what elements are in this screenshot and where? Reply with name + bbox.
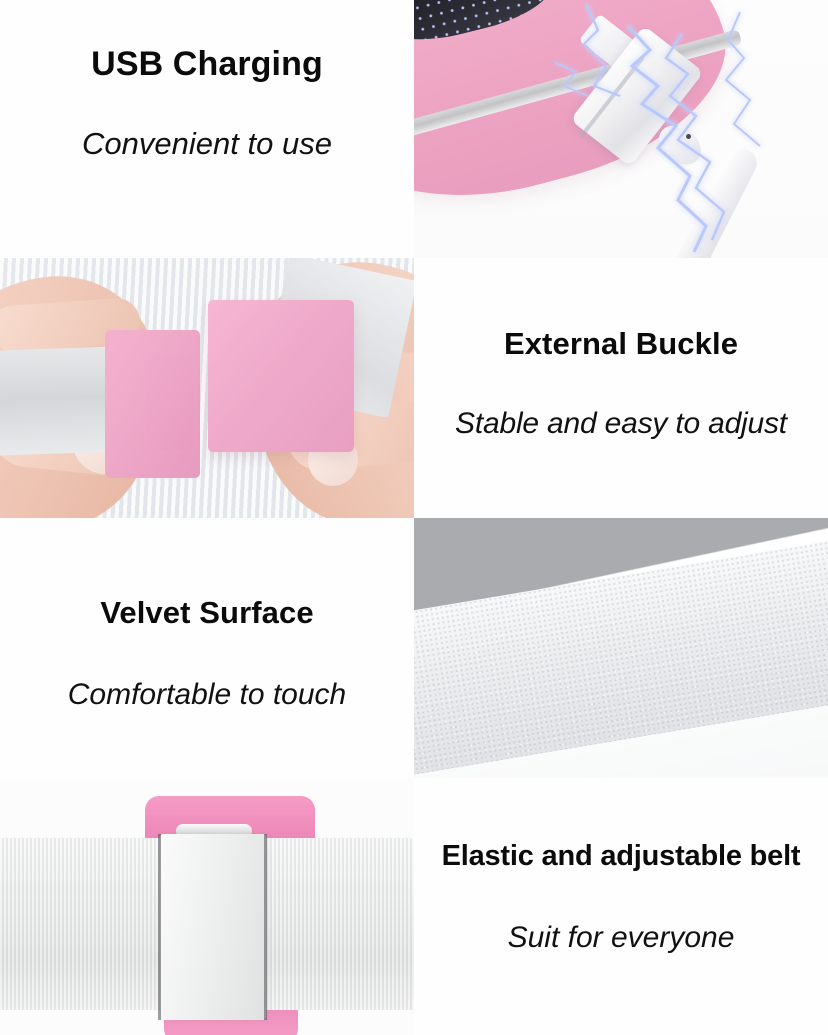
feature-text-velvet-surface: Velvet Surface Comfortable to touch [0, 518, 414, 778]
belt-folded-loop [160, 834, 266, 1020]
feature-title-external-buckle: External Buckle [504, 326, 738, 362]
feature-subtitle-external-buckle: Stable and easy to adjust [455, 407, 787, 441]
buckle-tongue [146, 354, 194, 450]
feature-text-external-buckle: External Buckle Stable and easy to adjus… [414, 258, 828, 518]
feature-title-velvet-surface: Velvet Surface [100, 595, 313, 631]
feature-title-usb-charging: USB Charging [91, 45, 323, 84]
feature-subtitle-elastic-belt: Suit for everyone [508, 921, 735, 955]
electric-spark-icon [554, 0, 828, 258]
feature-subtitle-usb-charging: Convenient to use [82, 126, 332, 162]
velvet-surface-photo [414, 518, 828, 778]
feature-subtitle-velvet-surface: Comfortable to touch [68, 678, 346, 712]
belt-seam-right [264, 834, 267, 1020]
usb-charging-photo [414, 0, 828, 258]
feature-text-usb-charging: USB Charging Convenient to use [0, 0, 414, 258]
buckle-female-half [208, 300, 354, 452]
belt-seam-left [158, 834, 161, 1020]
feature-title-elastic-belt: Elastic and adjustable belt [442, 840, 801, 873]
elastic-belt-photo [0, 778, 414, 1035]
external-buckle-photo [0, 258, 414, 518]
infographic-grid: USB Charging Convenient to use [0, 0, 828, 1035]
feature-text-elastic-belt: Elastic and adjustable belt Suit for eve… [414, 778, 828, 1035]
